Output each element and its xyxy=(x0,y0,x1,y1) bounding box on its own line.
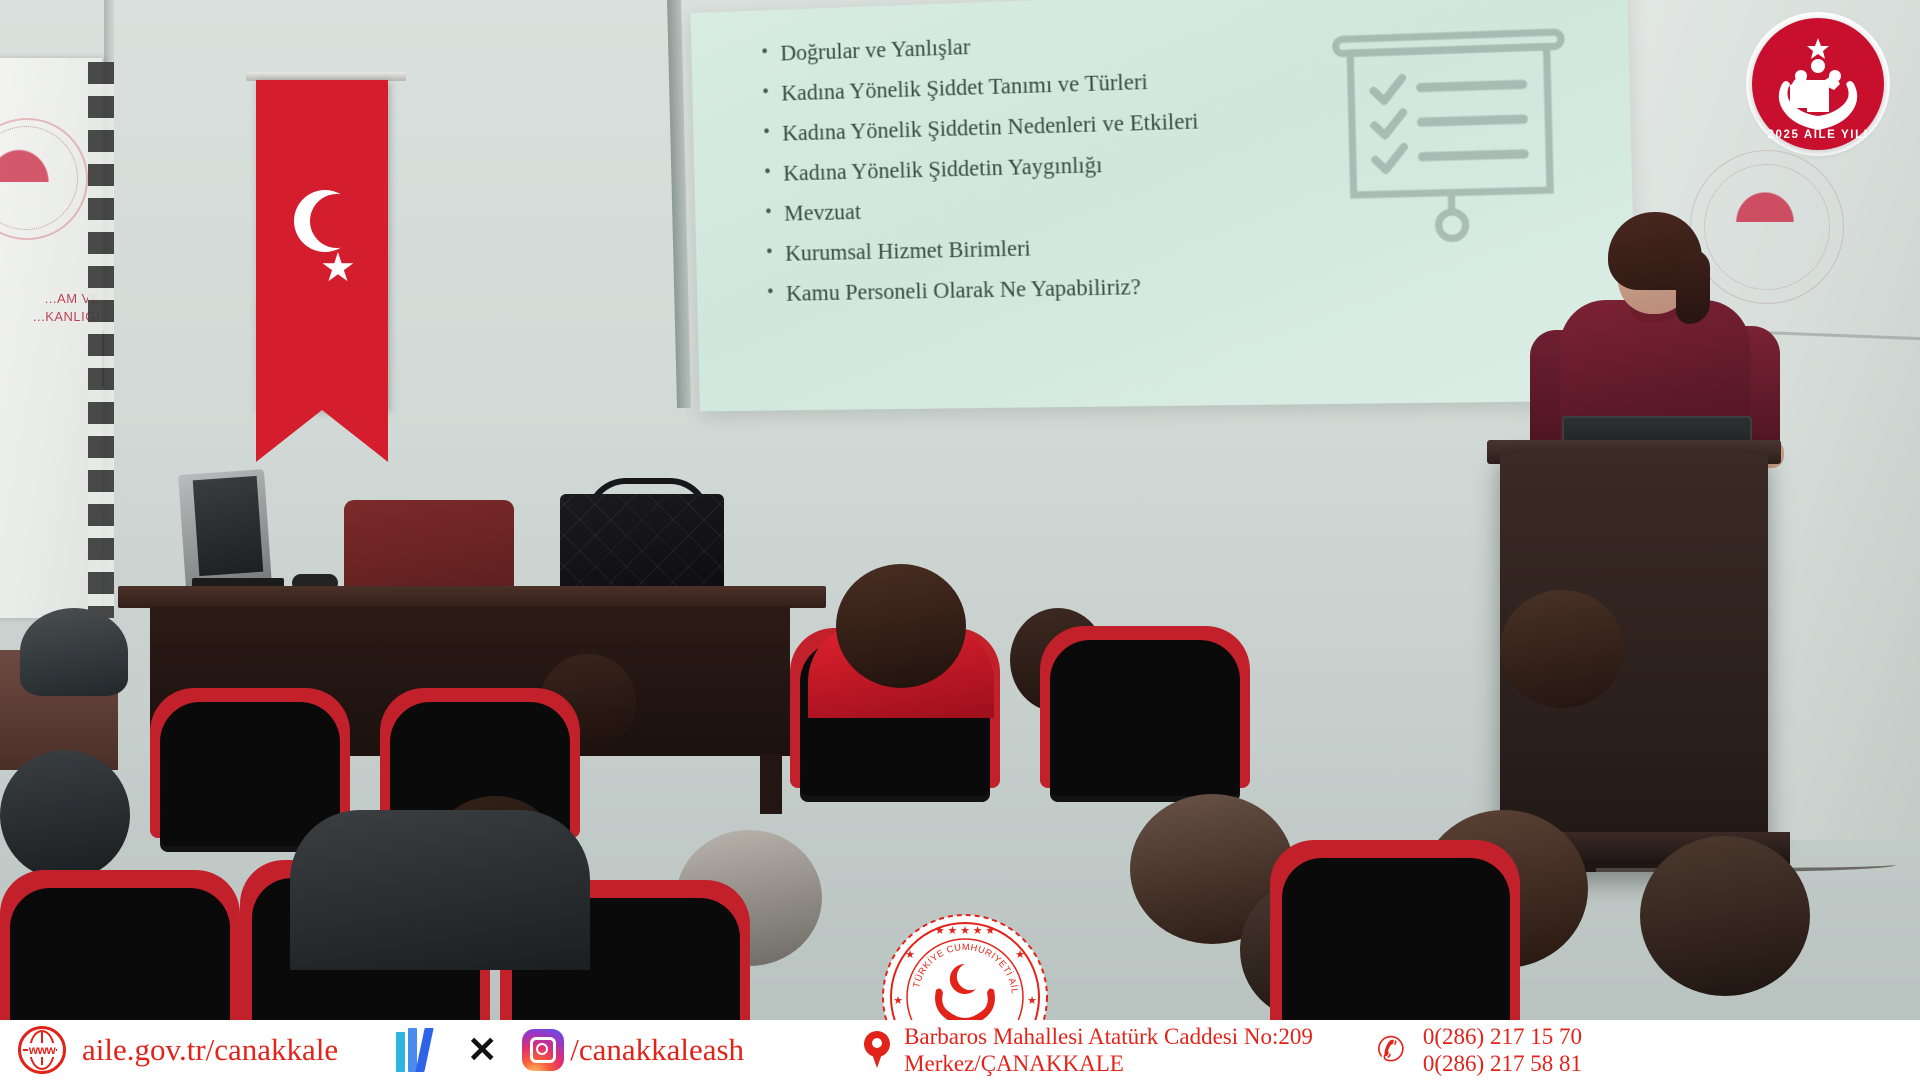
projection-screen: Doğrular ve Yanlışlar Kadına Yönelik Şid… xyxy=(691,0,1638,411)
svg-text:★ ★ ★ ★ ★: ★ ★ ★ ★ ★ xyxy=(935,925,995,937)
phone-line-1: 0(286) 217 15 70 xyxy=(1423,1023,1582,1050)
x-twitter-icon[interactable]: ✕ xyxy=(460,1028,504,1072)
desktop-monitor-screen xyxy=(193,476,264,576)
audience-seat xyxy=(1282,858,1510,1020)
audience-head xyxy=(20,608,128,696)
conference-desk-top xyxy=(118,586,826,608)
ministry-seal-wall-inner xyxy=(1704,164,1830,290)
presentation-board-checklist-icon xyxy=(1319,9,1583,251)
address-line-2: Merkez/ÇANAKKALE xyxy=(904,1050,1313,1077)
banner-text: ...AM VE ...KANLIĞI xyxy=(0,290,100,326)
map-pin-dot xyxy=(872,1038,882,1048)
globe-www-text: www xyxy=(28,1043,57,1057)
svg-text:★: ★ xyxy=(1015,949,1025,961)
svg-text:★: ★ xyxy=(893,995,903,1007)
svg-text:★: ★ xyxy=(1027,995,1037,1007)
audience-head xyxy=(0,750,130,880)
audience-person-dark xyxy=(290,810,590,970)
year-badge-label: 2025 AİLE YILI xyxy=(1752,129,1884,141)
social-handle[interactable]: /canakkaleash xyxy=(570,1032,744,1068)
conference-photo: ...AM VE ...KANLIĞI Doğrular ve Yanlışla… xyxy=(0,0,1920,1020)
phone-text: 0(286) 217 15 70 0(286) 217 58 81 xyxy=(1423,1023,1582,1077)
instagram-icon[interactable] xyxy=(522,1029,564,1071)
slide-bullet: Kamu Personeli Olarak Ne Yapabiliriz? xyxy=(763,261,1593,310)
event-photo-card: ...AM VE ...KANLIĞI Doğrular ve Yanlışla… xyxy=(0,0,1920,1080)
audience-head xyxy=(1500,590,1624,708)
phone-icon: ✆ xyxy=(1369,1028,1413,1072)
address-line-1: Barbaros Mahallesi Atatürk Caddesi No:20… xyxy=(904,1023,1313,1050)
presenter-hair-side xyxy=(1676,250,1710,324)
nsosyal-bar-3 xyxy=(416,1028,434,1072)
social-group[interactable]: ✕ /canakkaleash xyxy=(396,1028,744,1072)
website-url[interactable]: aile.gov.tr/canakkale xyxy=(82,1032,338,1068)
turkish-flag-vertical xyxy=(256,80,388,410)
phone-line-2: 0(286) 217 58 81 xyxy=(1423,1050,1582,1077)
nsosyal-icon[interactable] xyxy=(396,1028,442,1072)
globe-www-icon: www xyxy=(18,1026,66,1074)
handbag-quilting xyxy=(560,494,724,594)
map-pin-icon xyxy=(864,1031,890,1069)
audience-head xyxy=(836,564,966,688)
audience-seat xyxy=(10,888,230,1020)
address-group: Barbaros Mahallesi Atatürk Caddesi No:20… xyxy=(864,1023,1313,1077)
address-text: Barbaros Mahallesi Atatürk Caddesi No:20… xyxy=(904,1023,1313,1077)
footer-bar: www aile.gov.tr/canakkale ✕ /canakkaleas… xyxy=(0,1020,1920,1080)
banner-rail xyxy=(88,62,114,618)
year-badge-content: 2025 AİLE YILI xyxy=(1752,18,1884,150)
website-group[interactable]: www aile.gov.tr/canakkale xyxy=(18,1026,338,1074)
banner-text-line2: ...KANLIĞI xyxy=(0,308,100,326)
svg-text:★: ★ xyxy=(905,949,915,961)
instagram-lens xyxy=(530,1037,556,1063)
banner-text-line1: ...AM VE xyxy=(0,290,100,308)
ministry-seal-wall-emblem xyxy=(1732,188,1798,222)
audience-head xyxy=(1640,836,1810,996)
crescent-icon xyxy=(294,190,356,252)
phone-group: ✆ 0(286) 217 15 70 0(286) 217 58 81 xyxy=(1369,1023,1582,1077)
audience-seat xyxy=(1050,640,1240,802)
ministry-seal-center: ★ ★ ★ ★ ★ ★ ★ ★ ★ ★ ★ ★ ★ ★ ★ ★ TÜRKİYE … xyxy=(880,912,1050,1020)
nsosyal-bar-1 xyxy=(396,1032,405,1072)
